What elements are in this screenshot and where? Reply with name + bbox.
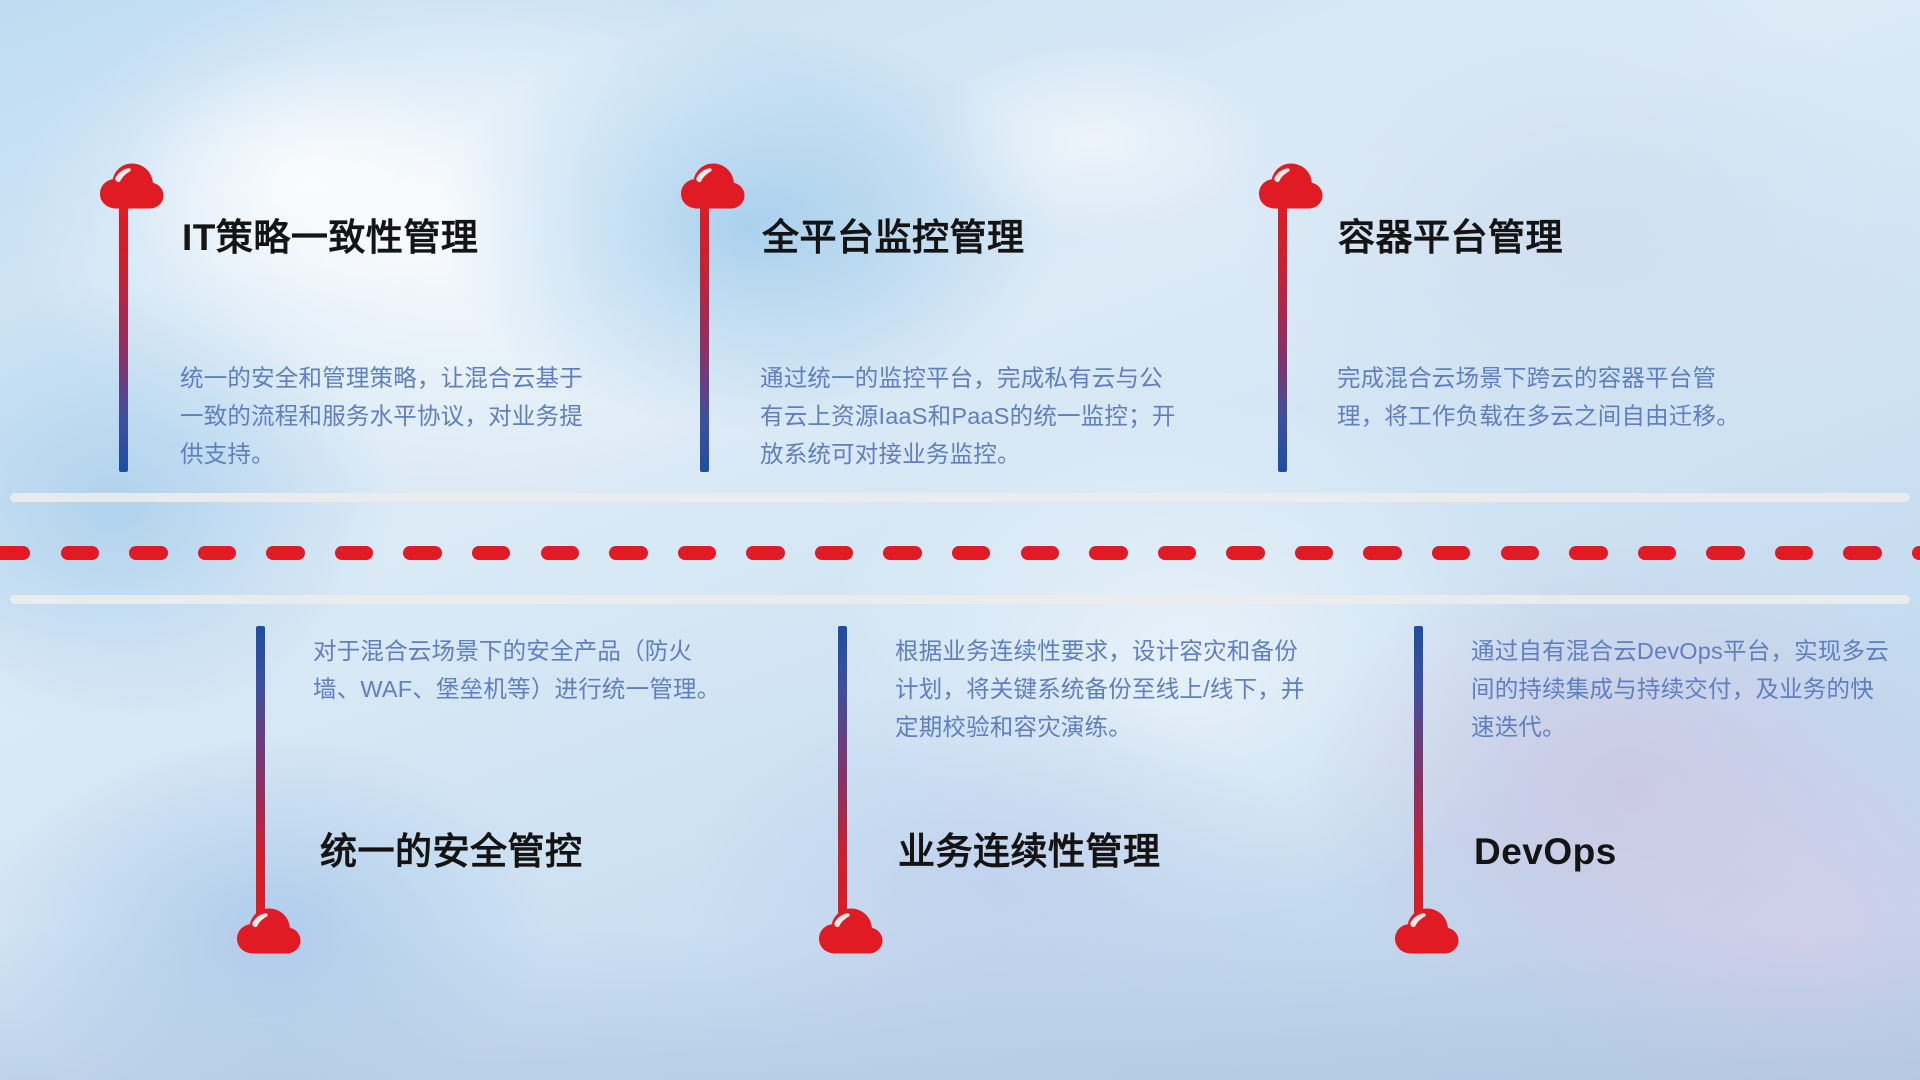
dash-segment xyxy=(1089,546,1127,560)
dash-segment xyxy=(472,546,510,560)
dash-segment xyxy=(61,546,99,560)
dash-segment xyxy=(609,546,647,560)
dash-segment xyxy=(198,546,236,560)
divider-line-dashed xyxy=(0,546,1920,560)
cloud-icon xyxy=(675,158,749,210)
feature-title: DevOps xyxy=(1474,833,1617,870)
dash-segment xyxy=(1363,546,1401,560)
feature-description: 根据业务连续性要求，设计容灾和备份计划，将关键系统备份至线上/线下，并定期校验和… xyxy=(895,632,1315,746)
dash-segment xyxy=(1432,546,1470,560)
dash-segment xyxy=(883,546,921,560)
dash-segment xyxy=(1706,546,1744,560)
dash-segment xyxy=(1912,546,1920,560)
dash-segment xyxy=(678,546,716,560)
feature-description: 完成混合云场景下跨云的容器平台管理，将工作负载在多云之间自由迁移。 xyxy=(1337,359,1757,435)
dash-segment xyxy=(1775,546,1813,560)
dash-segment xyxy=(403,546,441,560)
dash-segment xyxy=(1295,546,1333,560)
feature-description: 通过自有混合云DevOps平台，实现多云间的持续集成与持续交付，及业务的快速迭代… xyxy=(1471,632,1891,746)
dash-segment xyxy=(1226,546,1264,560)
dash-segment xyxy=(952,546,990,560)
dash-segment xyxy=(129,546,167,560)
dash-segment xyxy=(1569,546,1607,560)
cloud-icon xyxy=(231,903,305,955)
dash-segment xyxy=(1501,546,1539,560)
dash-segment xyxy=(0,546,30,560)
feature-item-devops: 通过自有混合云DevOps平台，实现多云间的持续集成与持续交付，及业务的快速迭代… xyxy=(0,0,640,420)
feature-description: 对于混合云场景下的安全产品（防火墙、WAF、堡垒机等）进行统一管理。 xyxy=(313,632,733,708)
feature-title: 全平台监控管理 xyxy=(762,219,1025,256)
divider-line-top xyxy=(10,493,1910,502)
connector-stem xyxy=(838,626,847,916)
dash-segment xyxy=(746,546,784,560)
connector-stem xyxy=(1278,198,1287,472)
dash-segment xyxy=(266,546,304,560)
divider-line-bottom xyxy=(10,595,1910,604)
dash-segment xyxy=(1021,546,1059,560)
cloud-icon xyxy=(813,903,887,955)
connector-stem xyxy=(700,198,709,472)
dash-segment xyxy=(1158,546,1196,560)
dash-segment xyxy=(815,546,853,560)
cloud-icon xyxy=(1389,903,1463,955)
dash-segment xyxy=(335,546,373,560)
connector-stem xyxy=(1414,626,1423,916)
feature-title: 业务连续性管理 xyxy=(898,833,1161,870)
cloud-icon xyxy=(1253,158,1327,210)
connector-stem xyxy=(256,626,265,916)
feature-description: 通过统一的监控平台，完成私有云与公有云上资源IaaS和PaaS的统一监控；开放系… xyxy=(760,359,1180,473)
dash-segment xyxy=(541,546,579,560)
dash-segment xyxy=(1843,546,1881,560)
dash-segment xyxy=(1638,546,1676,560)
feature-title: 统一的安全管控 xyxy=(320,833,583,870)
feature-title: 容器平台管理 xyxy=(1338,219,1563,256)
